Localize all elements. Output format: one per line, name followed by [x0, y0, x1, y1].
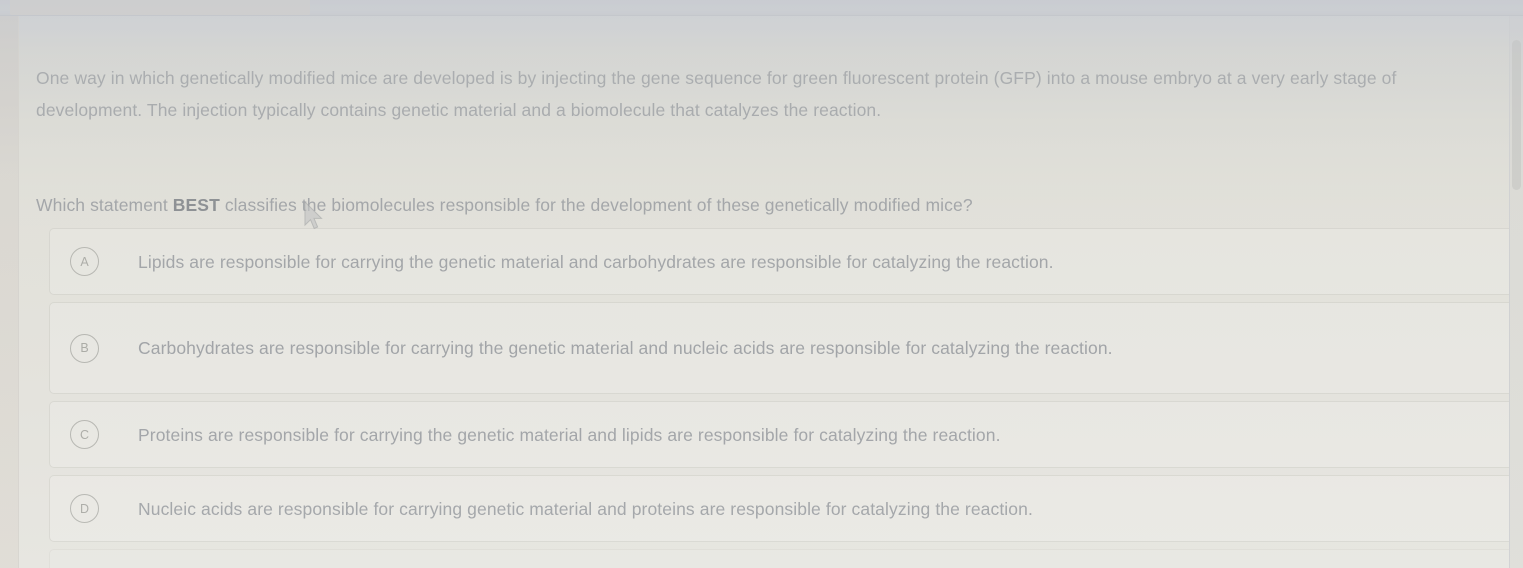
app-chrome-strip — [0, 0, 1523, 16]
answer-options-list: A Lipids are responsible for carrying th… — [49, 228, 1517, 568]
question-prompt: Which statement BEST classifies the biom… — [36, 189, 1498, 221]
answer-option-d[interactable]: D Nucleic acids are responsible for carr… — [49, 475, 1517, 542]
chrome-tab[interactable] — [10, 0, 310, 16]
question-content: One way in which genetically modified mi… — [19, 16, 1523, 568]
answer-option-next-partial[interactable] — [49, 549, 1517, 568]
question-screen: One way in which genetically modified mi… — [0, 0, 1523, 568]
option-text-c: Proteins are responsible for carrying th… — [138, 420, 1498, 450]
question-prompt-after: classifies the biomolecules responsible … — [220, 195, 973, 215]
answer-option-b[interactable]: B Carbohydrates are responsible for carr… — [49, 302, 1517, 394]
option-letter-badge-b[interactable]: B — [70, 334, 99, 363]
question-prompt-before: Which statement — [36, 195, 173, 215]
option-letter-badge-d[interactable]: D — [70, 494, 99, 523]
answer-option-a[interactable]: A Lipids are responsible for carrying th… — [49, 228, 1517, 295]
option-text-b: Carbohydrates are responsible for carryi… — [138, 333, 1498, 363]
option-letter-badge-c[interactable]: C — [70, 420, 99, 449]
option-text-d: Nucleic acids are responsible for carryi… — [138, 494, 1498, 524]
left-gutter — [0, 16, 18, 568]
passage-text: One way in which genetically modified mi… — [36, 62, 1498, 126]
answer-option-c[interactable]: C Proteins are responsible for carrying … — [49, 401, 1517, 468]
option-letter-badge-a[interactable]: A — [70, 247, 99, 276]
option-text-a: Lipids are responsible for carrying the … — [138, 247, 1498, 277]
vertical-scrollbar-thumb[interactable] — [1512, 40, 1521, 190]
vertical-scrollbar-track[interactable] — [1510, 16, 1523, 568]
question-emphasis: BEST — [173, 195, 220, 215]
